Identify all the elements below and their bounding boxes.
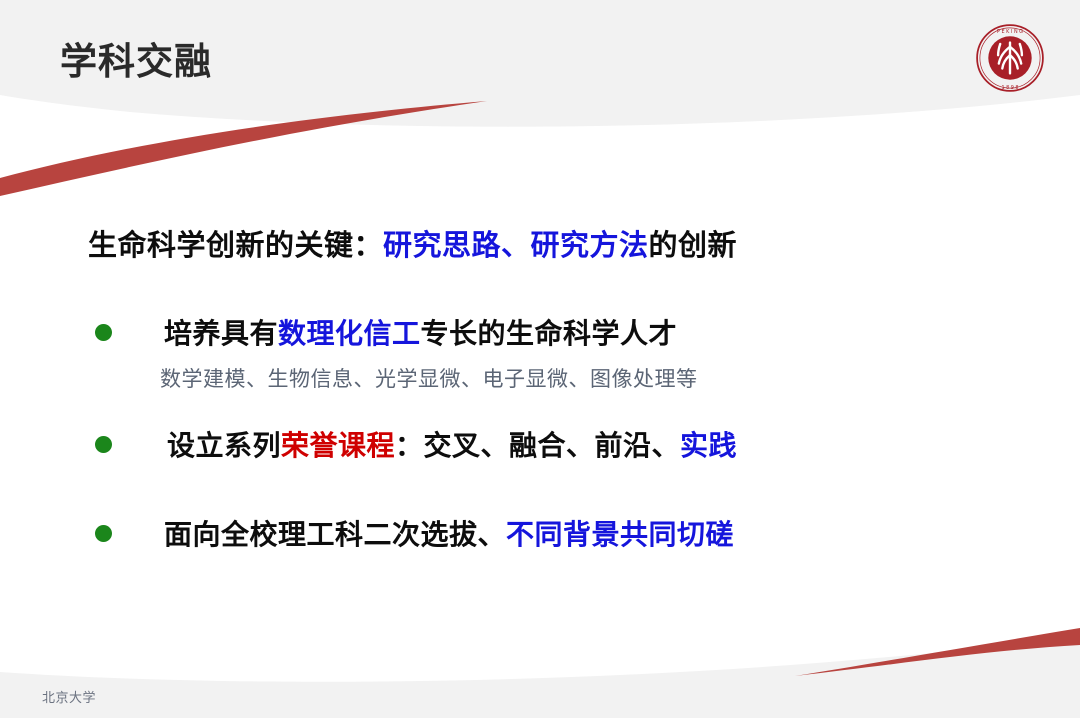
bullet-2-segment-1: 设立系列 xyxy=(167,429,281,462)
bullet-1-segment-2-highlight: 数理化信工 xyxy=(278,317,421,350)
bullet-2-segment-3: ：交叉、融合、前沿、 xyxy=(395,429,680,462)
footer-institution-label: 北京大学 xyxy=(42,687,96,706)
bullet-1-segment-1: 培养具有 xyxy=(164,317,278,350)
green-bullet-dot-icon xyxy=(95,525,112,542)
bullet-item-1-subnote: 数学建模、生物信息、光学显微、电子显微、图像处理等 xyxy=(160,363,698,393)
bullet-item-2-text: 设立系列荣誉课程：交叉、融合、前沿、实践 xyxy=(167,424,737,464)
bullet-2-segment-4-highlight: 实践 xyxy=(680,429,737,462)
slide: 学科交融 P E K I N G 1 8 9 8 生命科学创新的关键：研究思路、… xyxy=(0,0,1080,718)
lead-statement: 生命科学创新的关键：研究思路、研究方法的创新 xyxy=(88,222,737,264)
bullet-item-1: 培养具有数理化信工专长的生命科学人才 xyxy=(95,312,677,352)
lead-part-1: 生命科学创新的关键： xyxy=(88,228,383,262)
lead-part-2-highlight: 研究思路、研究方法 xyxy=(383,228,649,262)
bullet-3-segment-2-highlight: 不同背景共同切磋 xyxy=(506,518,734,551)
green-bullet-dot-icon xyxy=(95,324,112,341)
bullet-item-1-text: 培养具有数理化信工专长的生命科学人才 xyxy=(164,312,677,352)
bullet-2-segment-2-highlight: 荣誉课程 xyxy=(281,429,395,462)
bullet-item-3-text: 面向全校理工科二次选拔、不同背景共同切磋 xyxy=(164,513,734,553)
bullet-item-3: 面向全校理工科二次选拔、不同背景共同切磋 xyxy=(95,513,734,553)
green-bullet-dot-icon xyxy=(95,436,112,453)
bullet-item-2: 设立系列荣誉课程：交叉、融合、前沿、实践 xyxy=(95,424,737,464)
slide-content: 生命科学创新的关键：研究思路、研究方法的创新 培养具有数理化信工专长的生命科学人… xyxy=(0,0,1080,718)
bullet-1-segment-3: 专长的生命科学人才 xyxy=(421,317,678,350)
lead-part-3: 的创新 xyxy=(649,228,738,262)
bullet-3-segment-1: 面向全校理工科二次选拔、 xyxy=(164,518,506,551)
